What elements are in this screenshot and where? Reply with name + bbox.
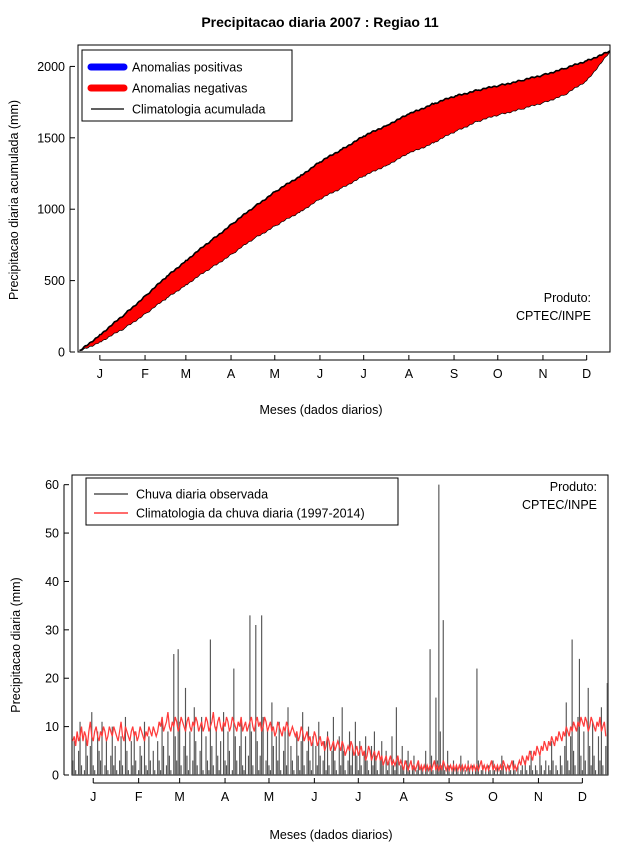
top-xtick-label: M (181, 367, 191, 381)
bottom-xaxis: JFMAMJJASOND (90, 778, 587, 804)
accumulated-chart-svg: Precipitacao diaria 2007 : Regiao 11 050… (0, 0, 640, 430)
top-ytick-label: 1500 (37, 131, 65, 145)
top-ytick-label: 0 (58, 346, 65, 360)
top-xtick-label: J (317, 367, 323, 381)
bottom-ytick-label: 20 (45, 672, 59, 686)
top-ytick-label: 500 (44, 274, 65, 288)
bottom-annotation-line1: Produto: (550, 480, 597, 494)
top-yaxis-title: Precipitacao diaria acumulada (mm) (7, 100, 21, 300)
top-xtick-label: S (450, 367, 458, 381)
bottom-xtick-label: N (534, 790, 543, 804)
top-xtick-label: M (270, 367, 280, 381)
top-xtick-label: F (141, 367, 149, 381)
top-legend-label: Climatologia acumulada (132, 103, 265, 117)
bottom-annotation-line2: CPTEC/INPE (522, 498, 597, 512)
bottom-xtick-label: J (311, 790, 317, 804)
top-annotation-line1: Produto: (544, 291, 591, 305)
bottom-xtick-label: F (135, 790, 143, 804)
top-annotation-line2: CPTEC/INPE (516, 309, 591, 323)
top-xtick-label: J (361, 367, 367, 381)
bottom-legend-label: Climatologia da chuva diaria (1997-2014) (136, 507, 365, 521)
top-xaxis-title: Meses (dados diarios) (260, 403, 383, 417)
bottom-ytick-label: 0 (52, 769, 59, 783)
top-xtick-label: A (405, 367, 414, 381)
accumulated-precipitation-chart: Precipitacao diaria 2007 : Regiao 11 050… (0, 0, 640, 430)
bottom-yaxis-title: Precipitacao diaria (mm) (9, 577, 23, 712)
bottom-xtick-label: O (488, 790, 498, 804)
figure-page: Precipitacao diaria 2007 : Regiao 11 050… (0, 0, 640, 850)
bottom-ytick-label: 40 (45, 575, 59, 589)
bottom-ytick-label: 50 (45, 527, 59, 541)
top-xaxis: JFMAMJJASOND (97, 355, 591, 381)
bottom-legend-label: Chuva diaria observada (136, 488, 268, 502)
top-ytick-label: 2000 (37, 60, 65, 74)
top-yaxis: 0500100015002000 (37, 60, 75, 360)
daily-precipitation-chart: 0102030405060JFMAMJJASONDChuva diaria ob… (0, 430, 640, 850)
top-xtick-label: N (538, 367, 547, 381)
daily-chart-svg: 0102030405060JFMAMJJASONDChuva diaria ob… (0, 430, 640, 850)
bottom-yaxis: 0102030405060 (45, 478, 69, 782)
top-ytick-label: 1000 (37, 203, 65, 217)
bottom-xtick-label: M (174, 790, 184, 804)
bottom-xtick-label: A (400, 790, 409, 804)
bottom-xtick-label: A (221, 790, 230, 804)
bottom-xtick-label: S (445, 790, 453, 804)
bottom-xtick-label: M (264, 790, 274, 804)
bottom-xtick-label: J (90, 790, 96, 804)
top-legend-label: Anomalias negativas (132, 82, 247, 96)
bottom-ytick-label: 60 (45, 478, 59, 492)
top-legend: Anomalias positivasAnomalias negativasCl… (82, 50, 292, 121)
bottom-xtick-label: D (578, 790, 587, 804)
top-xtick-label: A (227, 367, 236, 381)
bottom-xtick-label: J (355, 790, 361, 804)
top-xtick-label: O (493, 367, 503, 381)
bottom-xaxis-title: Meses (dados diarios) (270, 828, 393, 842)
top-xtick-label: J (97, 367, 103, 381)
bottom-ytick-label: 10 (45, 720, 59, 734)
bottom-ytick-label: 30 (45, 623, 59, 637)
top-legend-label: Anomalias positivas (132, 61, 242, 75)
bottom-legend: Chuva diaria observadaClimatologia da ch… (86, 478, 398, 525)
page-title: Precipitacao diaria 2007 : Regiao 11 (201, 14, 439, 30)
top-xtick-label: D (582, 367, 591, 381)
